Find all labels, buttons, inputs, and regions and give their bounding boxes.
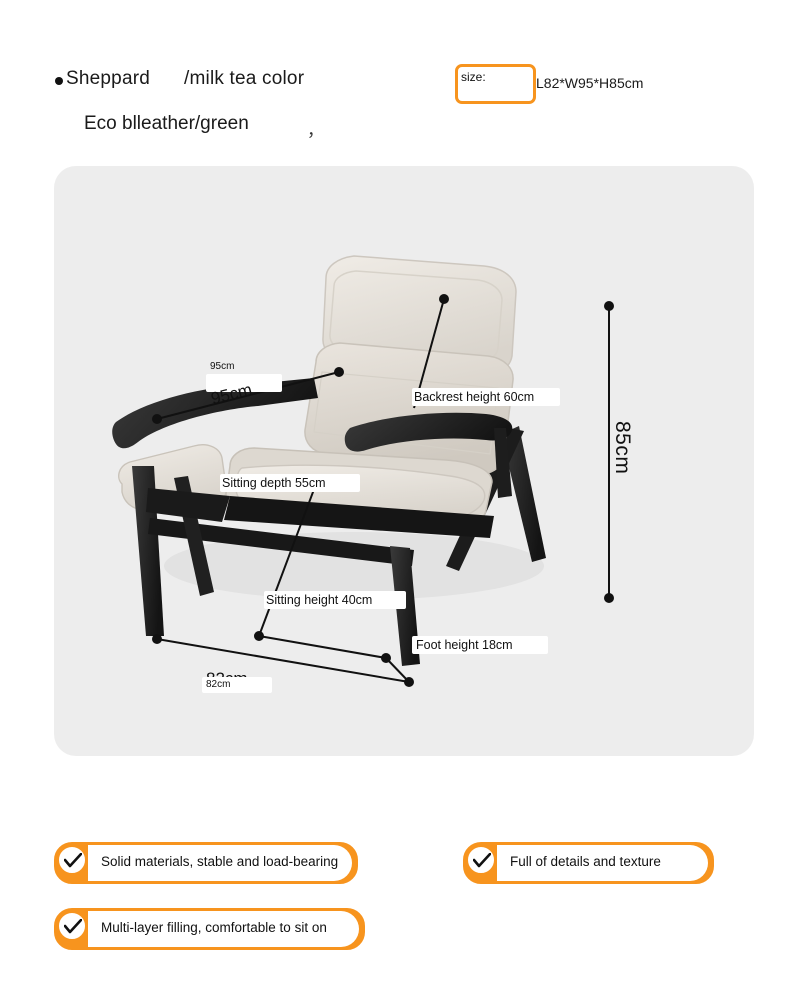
size-value: L82*W95*H85cm (536, 75, 643, 91)
feature-pill-2: Multi-layer filling, comfortable to sit … (54, 908, 365, 950)
feature-pill-0: Solid materials, stable and load-bearing (54, 842, 358, 884)
material-line: Eco blleather/green (84, 113, 249, 135)
feature-text-1: Full of details and texture (510, 854, 661, 869)
product-title-line: Sheppard/milk tea color (66, 68, 304, 90)
check-icon (57, 911, 87, 941)
title-comma: ， (307, 116, 324, 141)
sitting-depth-label: Sitting depth 55cm (222, 476, 326, 490)
height-label: 85cm (610, 421, 634, 474)
bullet-dot-icon (55, 77, 63, 85)
dimension-overlay (54, 166, 754, 756)
width-label-small: 95cm (210, 361, 234, 372)
check-icon (466, 845, 496, 875)
feature-text-2: Multi-layer filling, comfortable to sit … (101, 920, 327, 935)
feature-pill-1: Full of details and texture (463, 842, 714, 884)
product-diagram-panel: 95cm 95cm Backrest height 60cm Sitting d… (54, 166, 754, 756)
check-icon (57, 845, 87, 875)
product-header: Sheppard/milk tea color Eco blleather/gr… (0, 0, 800, 160)
foot-height-label: Foot height 18cm (416, 638, 513, 652)
size-label: size: (461, 70, 486, 84)
product-name: Sheppard (66, 68, 150, 89)
feature-text-0: Solid materials, stable and load-bearing (101, 854, 338, 869)
backrest-height-label: Backrest height 60cm (414, 390, 534, 404)
depth-label-small: 82cm (206, 679, 230, 690)
sitting-height-label: Sitting height 40cm (266, 593, 372, 607)
color-variant: /milk tea color (184, 68, 304, 89)
